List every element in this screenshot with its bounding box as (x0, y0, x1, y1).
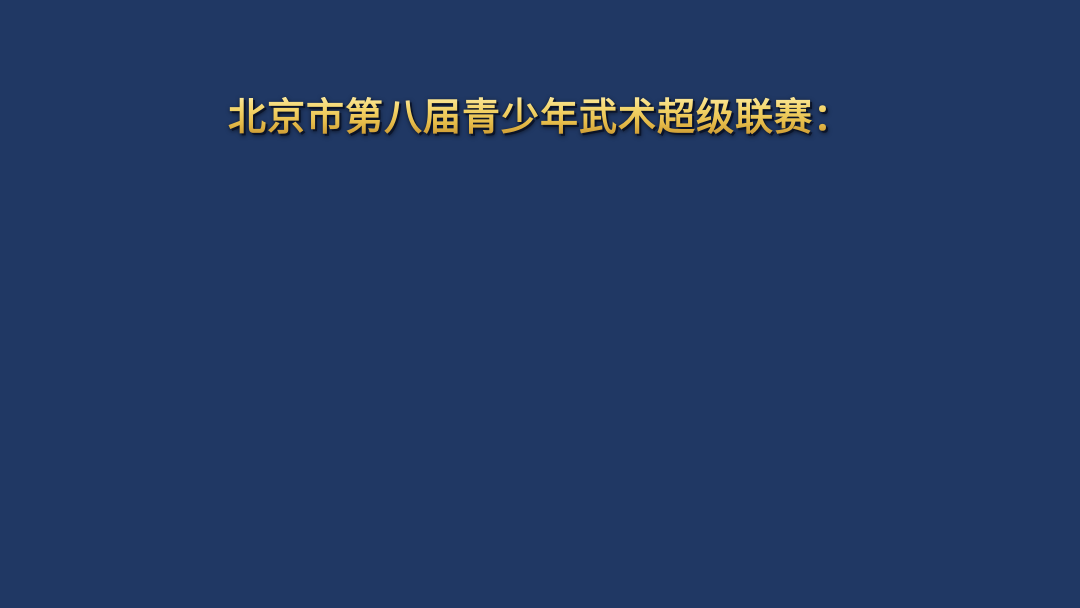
roster-line: 丙组：2.3班朱文浩2.4高梓弘2.6班刘灿熙 (0, 178, 1080, 241)
roster-entry: 3.7班虞画州 (530, 241, 686, 285)
group-label: 甲组： (240, 367, 329, 411)
roster-entry: 5.8刘柠赫 (703, 367, 829, 411)
presentation-slide: 北京市第八届青少年武术超级联赛： 丙组：2.3班朱文浩2.4高梓弘2.6班刘灿熙… (0, 0, 1080, 608)
roster-entry: 2.3班朱文浩 (329, 178, 485, 222)
group-label: 丙组： (240, 178, 329, 222)
roster-line: 乙组：3.1班董储豪3.7班虞画州3.8班姜文楷 (0, 241, 1080, 304)
roster-entry: 4.1班马一博 (236, 304, 392, 348)
page-title: 北京市第八届青少年武术超级联赛： (228, 97, 852, 141)
group-label: 乙组： (240, 241, 329, 285)
roster-list: 丙组：2.3班朱文浩2.4高梓弘2.6班刘灿熙 乙组：3.1班董储豪3.7班虞画… (0, 178, 1080, 430)
roster-entry: 2.4高梓弘 (530, 178, 656, 222)
roster-line: 甲组：5.3班冯俊翔5.5李冠廷5.8刘柠赫 (0, 367, 1080, 430)
roster-line: 4.1班马一博4.1班赵铭泽4.2班金昭含 (0, 304, 1080, 367)
title-row: 北京市第八届青少年武术超级联赛： (0, 97, 1080, 141)
roster-entry: 2.6班刘灿熙 (703, 178, 859, 222)
roster-entry: 4.2班金昭含 (624, 304, 780, 348)
roster-entry: 5.5李冠廷 (530, 367, 656, 411)
roster-entry: 4.1班赵铭泽 (432, 304, 588, 348)
roster-entry: 3.8班姜文楷 (732, 241, 888, 285)
roster-entry: 5.3班冯俊翔 (329, 367, 485, 411)
roster-entry: 3.1班董储豪 (329, 241, 485, 285)
